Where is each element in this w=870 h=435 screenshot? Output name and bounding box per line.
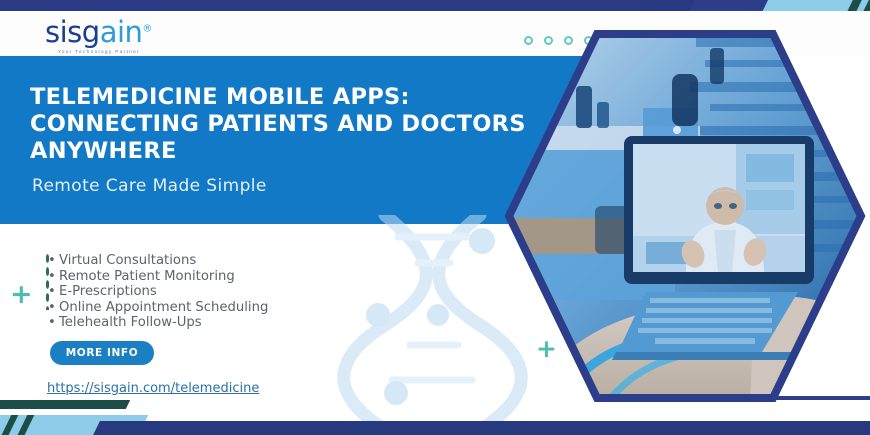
list-item: Remote Patient Monitoring [48, 269, 268, 285]
list-item: Telehealth Follow-Ups [48, 315, 268, 331]
logo-wordmark-secondary: ain [100, 15, 143, 49]
brand-logo[interactable]: sisgain® Your Technology Partner [45, 18, 245, 58]
bottom-navy-bar [150, 421, 870, 435]
logo-wordmark: sisgain® [45, 18, 245, 47]
decor-dotted-line [45, 252, 50, 310]
registered-trademark-icon: ® [142, 23, 152, 34]
website-link[interactable]: https://sisgain.com/telemedicine [47, 381, 259, 396]
logo-tagline: Your Technology Partner [45, 49, 153, 54]
decor-thin-navy-line [613, 396, 870, 400]
list-item: Online Appointment Scheduling [48, 300, 268, 316]
telemedicine-promo-banner: sisgain® Your Technology Partner TELEMED… [0, 0, 870, 435]
plus-icon: + [10, 281, 33, 308]
more-info-button[interactable]: MORE INFO [50, 341, 154, 365]
top-navy-bar-inner [0, 0, 640, 11]
hero-subtitle: Remote Care Made Simple [32, 176, 267, 196]
logo-wordmark-primary: sisg [45, 15, 100, 49]
list-item: Virtual Consultations [48, 253, 268, 269]
feature-list: Virtual Consultations Remote Patient Mon… [48, 253, 268, 331]
page-title: TELEMEDICINE MOBILE APPS: CONNECTING PAT… [30, 84, 550, 165]
decor-stripe-green-bottom [0, 400, 130, 409]
list-item: E-Prescriptions [48, 284, 268, 300]
hexagon-photo [500, 30, 870, 402]
